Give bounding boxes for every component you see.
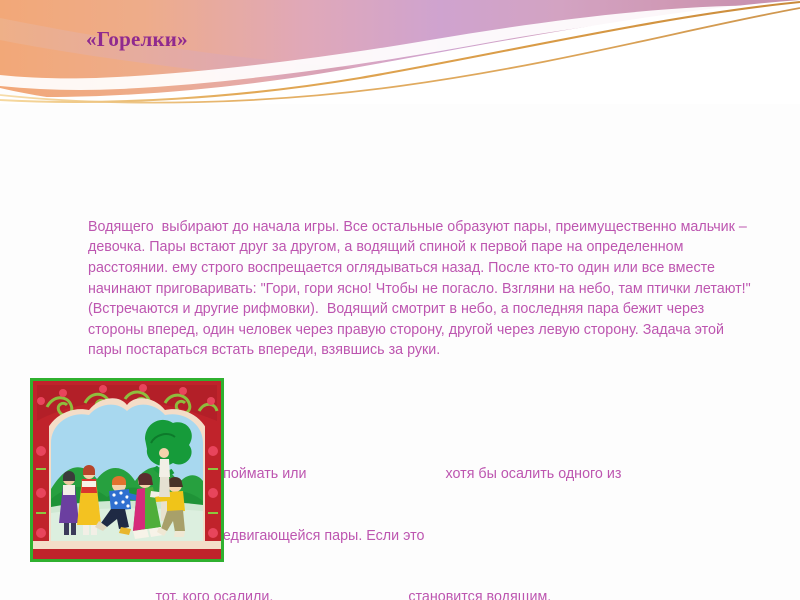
illustration-artwork (33, 381, 221, 559)
frame-base (33, 541, 221, 559)
folk-game-illustration (30, 378, 224, 562)
paragraph-rules: Водящего выбирают до начала игры. Все ос… (88, 217, 752, 361)
header-white-swoosh-lower (0, 0, 800, 130)
paragraph-line: тот, кого осалили, становится водящим, (88, 587, 752, 600)
header-decoration (0, 0, 800, 130)
page-title: «Горелки» (86, 26, 188, 52)
scene (51, 401, 203, 551)
header-gold-line-lower (0, 8, 800, 103)
figure-climber (159, 448, 170, 497)
header-gradient-shape (0, 0, 800, 116)
header-base-fill (0, 104, 800, 130)
slide-canvas: «Горелки» Водящего выбирают до начала иг… (0, 0, 800, 600)
